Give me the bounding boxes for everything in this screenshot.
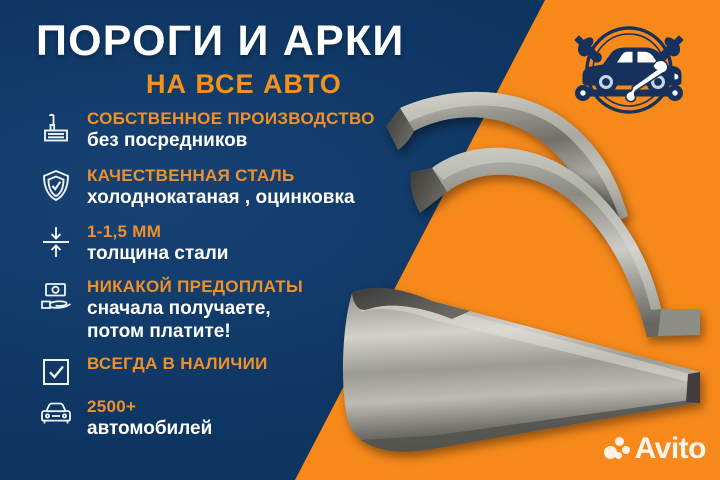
feature-item-car-count: 2500+ автомобилей <box>33 396 433 440</box>
feature-subtitle: холоднокатаная , оцинковка <box>87 186 355 209</box>
checkbox-checked-icon <box>33 353 79 387</box>
banner-headline: ПОРОГИ И АРКИ <box>36 17 404 66</box>
feature-item-in-stock: ВСЕГДА В НАЛИЧИИ <box>33 353 433 387</box>
avito-wordmark: Avito <box>635 434 706 464</box>
feature-text-thickness: 1-1,5 ММ толщина стали <box>79 221 228 265</box>
shield-check-icon <box>33 165 79 203</box>
feature-item-thickness: 1-1,5 ММ толщина стали <box>33 221 433 265</box>
feature-title: 1-1,5 ММ <box>87 221 228 242</box>
factory-icon <box>33 108 79 144</box>
feature-title: СОБСТВЕННОЕ ПРОИЗВОДСТВО <box>87 108 375 129</box>
banner-subheadline: НА ВСЕ АВТО <box>146 69 342 100</box>
feature-title: НИКАКОЙ ПРЕДОПЛАТЫ <box>87 276 303 297</box>
feature-item-production: СОБСТВЕННОЕ ПРОИЗВОДСТВО без посредников <box>33 108 433 152</box>
advertisement-banner: ПОРОГИ И АРКИ НА ВСЕ АВТО СОБСТВЕННОЕ ПР… <box>0 0 720 480</box>
feature-text-car-count: 2500+ автомобилей <box>79 396 212 440</box>
feature-text-no-prepayment: НИКАКОЙ ПРЕДОПЛАТЫ сначала получаете, по… <box>79 276 303 343</box>
feature-subtitle-second-line: потом платите! <box>87 320 303 343</box>
car-front-icon <box>33 396 79 428</box>
feature-title: 2500+ <box>87 396 212 417</box>
feature-subtitle: автомобилей <box>87 417 212 440</box>
feature-subtitle: сначала получаете, <box>87 297 303 320</box>
feature-item-no-prepayment: НИКАКОЙ ПРЕДОПЛАТЫ сначала получаете, по… <box>33 276 433 343</box>
feature-item-steel-quality: КАЧЕСТВЕННАЯ СТАЛЬ холоднокатаная , оцин… <box>33 165 433 209</box>
feature-list: СОБСТВЕННОЕ ПРОИЗВОДСТВО без посредников… <box>33 108 433 450</box>
feature-text-production: СОБСТВЕННОЕ ПРОИЗВОДСТВО без посредников <box>79 108 375 152</box>
feature-title: КАЧЕСТВЕННАЯ СТАЛЬ <box>87 165 355 186</box>
feature-text-steel-quality: КАЧЕСТВЕННАЯ СТАЛЬ холоднокатаная , оцин… <box>79 165 355 209</box>
feature-text-in-stock: ВСЕГДА В НАЛИЧИИ <box>79 353 268 374</box>
avito-dots-icon <box>604 437 630 461</box>
feature-subtitle: без посредников <box>87 129 375 152</box>
hand-money-icon <box>33 276 79 314</box>
retro-car-wrench-logo <box>553 18 705 122</box>
avito-watermark: Avito <box>604 434 706 464</box>
feature-subtitle: толщина стали <box>87 242 228 265</box>
feature-title: ВСЕГДА В НАЛИЧИИ <box>87 353 268 374</box>
thickness-arrows-icon <box>33 221 79 259</box>
